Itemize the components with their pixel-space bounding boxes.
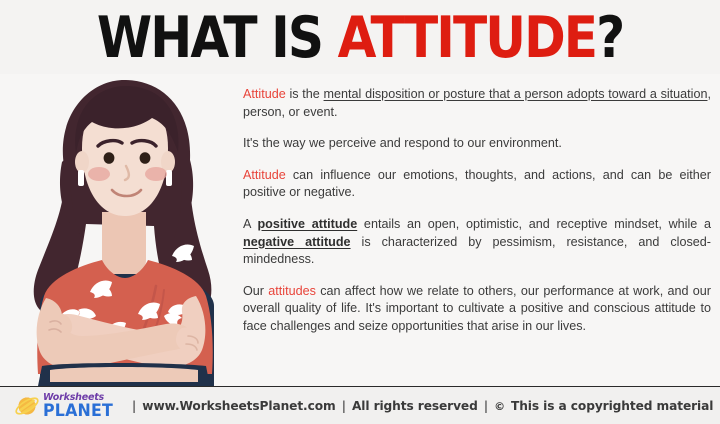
p4-run-3: entails an open, optimistic, and recepti… <box>357 217 711 231</box>
p1-underlined-phrase: mental disposition or posture that a per… <box>324 87 708 101</box>
title-part-black: WHAT IS <box>97 5 338 71</box>
footer-separator-3: | <box>484 399 488 413</box>
footer-rights: All rights reserved <box>352 399 478 413</box>
term-positive-attitude: positive attitude <box>257 217 357 231</box>
copyright-icon: © <box>494 400 505 413</box>
p5-run-1: Our <box>243 284 268 298</box>
keyword-attitude: Attitude <box>243 87 286 101</box>
paragraph-5: Our attitudes can affect how we relate t… <box>243 283 711 336</box>
footer-copyright-text: This is a copyrighted material <box>511 399 713 413</box>
footer-website[interactable]: www.WorksheetsPlanet.com <box>142 399 335 413</box>
p3-run-2: can influence our emotions, thoughts, an… <box>243 168 711 200</box>
footer-separator-2: | <box>342 399 346 413</box>
p1-run-2: is the <box>286 87 324 101</box>
logo-wordmark: Worksheets PLANET <box>43 393 116 419</box>
title-part-red: ATTITUDE <box>337 5 596 71</box>
paragraph-2: It's the way we perceive and respond to … <box>243 135 711 153</box>
keyword-attitude-2: Attitude <box>243 168 286 182</box>
paragraph-3: Attitude can influence our emotions, tho… <box>243 167 711 202</box>
worksheets-planet-logo[interactable]: Worksheets PLANET <box>14 393 116 419</box>
paragraph-4: A positive attitude entails an open, opt… <box>243 216 711 269</box>
content-area: Attitude is the mental disposition or po… <box>0 74 720 386</box>
definition-text: Attitude is the mental disposition or po… <box>243 86 711 336</box>
keyword-attitudes: attitudes <box>268 284 316 298</box>
title-question-mark: ? <box>596 5 623 71</box>
page-title: WHAT IS ATTITUDE? <box>97 10 623 67</box>
p2-run-1: It's the way we perceive and respond to … <box>243 136 562 150</box>
p4-run-1: A <box>243 217 257 231</box>
footer-separator-1: | <box>132 399 136 413</box>
planet-icon <box>14 393 40 419</box>
term-negative-attitude: negative attitude <box>243 235 351 249</box>
footer-bar: Worksheets PLANET | www.WorksheetsPlanet… <box>0 386 720 424</box>
woman-with-crossed-arms-illustration <box>6 74 234 386</box>
logo-bottom-word: PLANET <box>43 403 113 420</box>
footer-text: | www.WorksheetsPlanet.com | All rights … <box>132 399 713 413</box>
worksheet-page: WHAT IS ATTITUDE? <box>0 0 720 424</box>
page-title-bar: WHAT IS ATTITUDE? <box>0 0 720 74</box>
paragraph-1: Attitude is the mental disposition or po… <box>243 86 711 121</box>
